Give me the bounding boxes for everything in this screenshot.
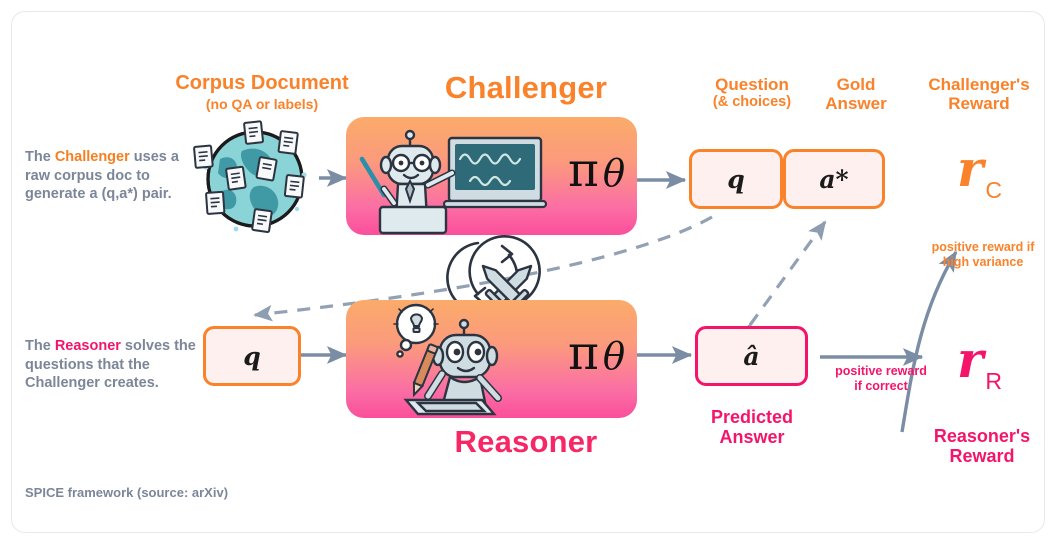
- challenger-reward-line1: Challenger's: [912, 75, 1045, 94]
- challenger-reward-note-line2: high variance: [913, 255, 1045, 270]
- r-glyph-challenger: r: [957, 139, 983, 198]
- theta-glyph-bottom: θ: [603, 335, 625, 378]
- gold-answer-label: Gold Answer: [807, 75, 905, 113]
- globe-documents-icon: [192, 117, 322, 242]
- dashed-arrow-compare-answers: [750, 222, 825, 325]
- question-token-box[interactable]: q: [689, 149, 783, 209]
- question-label-line1: Question: [691, 75, 813, 94]
- reasoner-caption-part1: The: [25, 338, 55, 354]
- challenger-reward-note-line1: positive reward if: [913, 240, 1045, 255]
- reasoner-caption-highlight: Reasoner: [55, 338, 121, 354]
- challenger-panel: πθ: [346, 117, 637, 235]
- reasoner-reward-line2: Reward: [917, 446, 1045, 466]
- predicted-answer-label: Predicted Answer: [685, 407, 819, 447]
- challenger-caption: The Challenger uses a raw corpus doc to …: [25, 148, 203, 204]
- predicted-answer-line1: Predicted: [685, 407, 819, 427]
- robot-writing-icon: [376, 304, 556, 418]
- reasoner-question-token-text: q: [243, 342, 260, 371]
- reasoner-policy-symbol: πθ: [568, 330, 625, 377]
- gold-answer-line2: Answer: [807, 94, 905, 113]
- reasoner-caption: The Reasoner solves the questions that t…: [25, 337, 207, 393]
- challenger-policy-symbol: πθ: [568, 147, 625, 194]
- reasoner-reward-symbol: rR: [957, 330, 1000, 389]
- reasoner-title: Reasoner: [381, 424, 671, 460]
- reasoner-reward-line1: Reasoner's: [917, 426, 1045, 446]
- reasoner-reward-label: Reasoner's Reward: [917, 426, 1045, 466]
- predicted-answer-token-text: â: [743, 342, 759, 371]
- corpus-document-title: Corpus Document: [152, 72, 372, 94]
- r-subscript-reasoner: R: [985, 368, 1002, 394]
- r-subscript-challenger: C: [985, 177, 1002, 203]
- reasoner-question-token-box[interactable]: q: [203, 326, 301, 386]
- theta-glyph-top: θ: [603, 152, 625, 195]
- arrow-to-challenger-reward: [902, 252, 956, 432]
- challenger-caption-part1: The: [25, 149, 55, 165]
- predicted-answer-token-box[interactable]: â: [695, 326, 808, 386]
- gold-answer-token-text: a*: [819, 165, 848, 194]
- challenger-title: Challenger: [381, 70, 671, 106]
- reasoner-reward-note: positive reward if correct: [819, 364, 943, 394]
- robot-teacher-icon: [354, 123, 559, 235]
- challenger-reward-symbol: rC: [957, 139, 1000, 198]
- challenger-reward-line2: Reward: [912, 94, 1045, 113]
- predicted-answer-line2: Answer: [685, 427, 819, 447]
- question-label: Question (& choices): [691, 75, 813, 110]
- r-glyph-reasoner: r: [957, 330, 983, 389]
- challenger-reward-label: Challenger's Reward: [912, 75, 1045, 113]
- gold-answer-token-box[interactable]: a*: [783, 149, 885, 209]
- figure-card: The Challenger uses a raw corpus doc to …: [11, 11, 1045, 533]
- reasoner-reward-note-line2: if correct: [819, 379, 943, 394]
- reasoner-panel: πθ: [346, 300, 637, 418]
- question-token-text: q: [727, 165, 744, 194]
- corpus-document-subtitle: (no QA or labels): [152, 96, 372, 112]
- figure-footnote: SPICE framework (source: arXiv): [25, 485, 228, 500]
- challenger-caption-highlight: Challenger: [55, 149, 130, 165]
- pi-glyph-top: π: [568, 143, 599, 198]
- gold-answer-line1: Gold: [807, 75, 905, 94]
- challenger-reward-note: positive reward if high variance: [913, 240, 1045, 270]
- pi-glyph-bottom: π: [568, 326, 599, 381]
- reasoner-reward-note-line1: positive reward: [819, 364, 943, 379]
- question-label-line2: (& choices): [691, 94, 813, 110]
